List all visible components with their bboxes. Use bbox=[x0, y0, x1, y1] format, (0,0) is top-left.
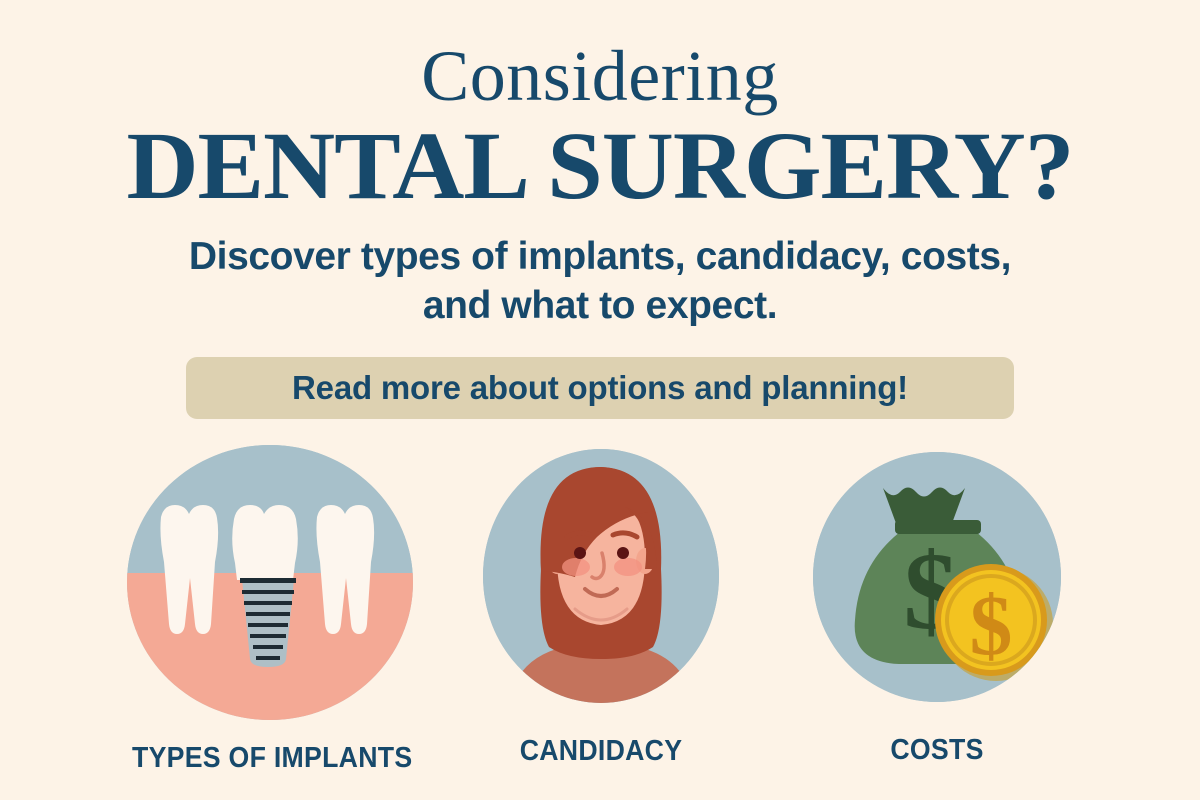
card-types-of-implants[interactable]: TYPES OF IMPLANTS bbox=[120, 445, 420, 775]
cta-banner-label: Read more about options and planning! bbox=[292, 369, 908, 407]
card-label-costs: COSTS bbox=[822, 734, 1052, 767]
money-bag-coin-icon: $ $ bbox=[813, 452, 1061, 702]
card-costs[interactable]: $ $ COSTS bbox=[812, 452, 1062, 767]
infographic-poster: Considering DENTAL SURGERY? Discover typ… bbox=[0, 0, 1200, 800]
page-title: DENTAL SURGERY? bbox=[0, 118, 1200, 214]
card-label-types-of-implants: TYPES OF IMPLANTS bbox=[132, 742, 408, 775]
cta-banner[interactable]: Read more about options and planning! bbox=[186, 357, 1014, 419]
headline-block: Considering DENTAL SURGERY? bbox=[0, 38, 1200, 214]
subtitle-line-1: Discover types of implants, candidacy, c… bbox=[130, 232, 1070, 281]
patient-face-icon bbox=[483, 449, 719, 703]
svg-text:$: $ bbox=[970, 577, 1013, 673]
card-label-candidacy: CANDIDACY bbox=[488, 735, 714, 768]
icon-card-row: TYPES OF IMPLANTS bbox=[0, 445, 1200, 775]
card-candidacy[interactable]: CANDIDACY bbox=[478, 449, 724, 768]
subtitle-line-2: and what to expect. bbox=[130, 281, 1070, 330]
subtitle: Discover types of implants, candidacy, c… bbox=[130, 232, 1070, 330]
headline-eyebrow: Considering bbox=[0, 38, 1200, 114]
dental-implant-icon bbox=[127, 445, 413, 720]
